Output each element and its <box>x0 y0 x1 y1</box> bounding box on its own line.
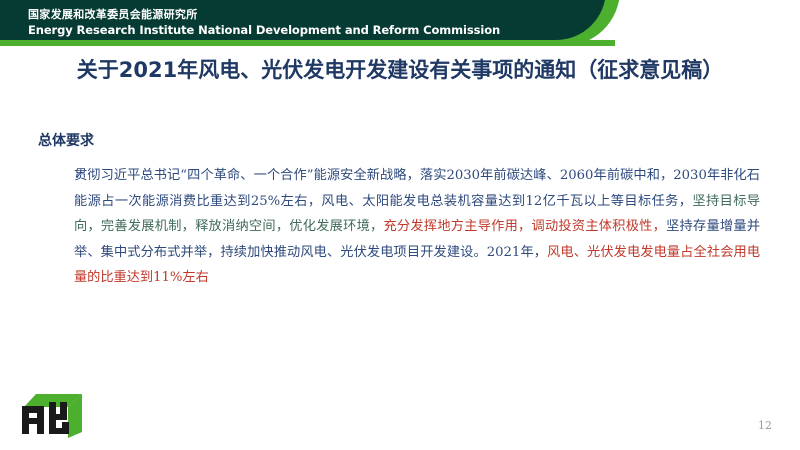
section-heading: 总体要求 <box>38 130 94 150</box>
organization-name-cn: 国家发展和改革委员会能源研究所 <box>28 8 198 21</box>
page-title: 关于2021年风电、光伏发电开发建设有关事项的通知（征求意见稿） <box>0 54 800 84</box>
check-icon: ✓ <box>38 163 74 188</box>
header-strip-mask <box>615 40 800 46</box>
paragraph-body: 贯彻习近平总书记“四个革命、一个合作”能源安全新战略，落实2030年前碳达峰、2… <box>74 163 760 291</box>
paragraph-segment-0: 贯彻习近平总书记“四个革命、一个合作”能源安全新战略，落实2030年前碳达峰、2… <box>74 168 760 209</box>
slide-canvas: 国家发展和改革委员会能源研究所 Energy Research Institut… <box>0 0 800 450</box>
bullet-list-item: ✓ 贯彻习近平总书记“四个革命、一个合作”能源安全新战略，落实2030年前碳达峰… <box>38 163 760 291</box>
organization-name-en: Energy Research Institute National Devel… <box>28 24 500 37</box>
page-number: 12 <box>758 419 772 432</box>
slide-header: 国家发展和改革委员会能源研究所 Energy Research Institut… <box>0 0 800 50</box>
paragraph-segment-2: 充分发挥地方主导作用，调动投资主体积极性， <box>384 219 667 234</box>
eri-logo <box>16 392 86 440</box>
